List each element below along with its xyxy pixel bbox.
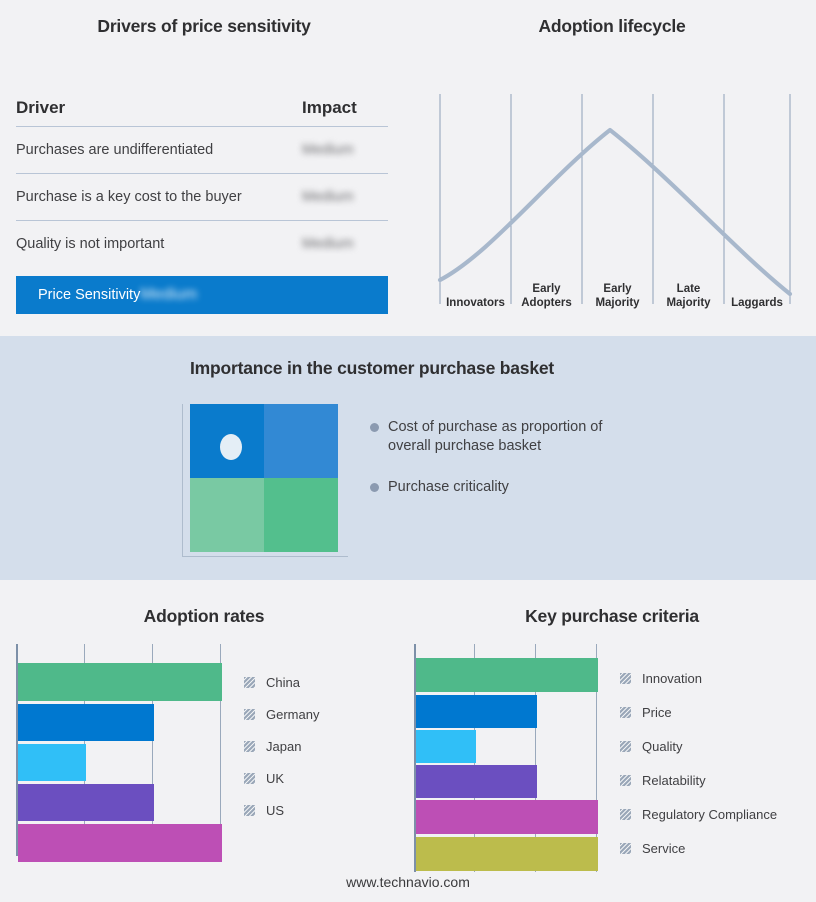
drivers-title: Drivers of price sensitivity <box>0 16 408 37</box>
lifecycle-stage: Late Majority <box>653 283 724 310</box>
impact-value-blurred: Medium <box>302 142 354 158</box>
highlight-impact-cell: Medium <box>140 286 226 304</box>
legend-item: Regulatory Compliance <box>620 797 777 831</box>
legend-item: Germany <box>244 698 319 730</box>
bar-uk <box>18 784 154 821</box>
impact-cell: Medium <box>302 189 388 205</box>
legend-item: Innovation <box>620 661 777 695</box>
legend-swatch-icon <box>620 843 631 854</box>
key-purchase-criteria-title: Key purchase criteria <box>408 606 816 627</box>
legend-swatch-icon <box>244 677 255 688</box>
impact-value-blurred: Medium <box>302 189 354 205</box>
lifecycle-stage: Early Adopters <box>511 283 582 310</box>
legend-item-label: US <box>266 803 284 818</box>
lifecycle-stage: Laggards <box>724 297 790 311</box>
legend-swatch-icon <box>244 805 255 816</box>
legend-item-label: Japan <box>266 739 301 754</box>
bar-germany <box>18 704 154 741</box>
adoption-lifecycle-title: Adoption lifecycle <box>408 16 816 37</box>
legend-item: Quality <box>620 729 777 763</box>
key-purchase-criteria-chart: Innovation Price Quality Relatability Re… <box>414 644 810 872</box>
quadrant-bottom-right <box>264 478 338 552</box>
adoption-rates-plot <box>16 644 222 856</box>
driver-cell: Purchase is a key cost to the buyer <box>16 189 302 205</box>
table-row: Quality is not important Medium <box>16 221 388 267</box>
stage-line2: Majority <box>653 297 724 311</box>
impact-value-blurred: Medium <box>302 236 354 252</box>
bullet-icon <box>370 423 379 432</box>
key-purchase-criteria-panel: Key purchase criteria Innovation <box>408 580 816 902</box>
legend-swatch-icon <box>244 741 255 752</box>
column-header-driver: Driver <box>16 98 302 118</box>
legend-swatch-icon <box>620 707 631 718</box>
legend-item-label: UK <box>266 771 284 786</box>
legend-item: Service <box>620 831 777 865</box>
legend-item-label: China <box>266 675 300 690</box>
purchase-basket-title: Importance in the customer purchase bask… <box>0 358 744 379</box>
bar-quality <box>416 730 476 763</box>
purchase-basket-panel: Importance in the customer purchase bask… <box>0 336 816 580</box>
bar-price <box>416 695 537 728</box>
bar-innovation <box>416 658 598 692</box>
table-row: Purchase is a key cost to the buyer Medi… <box>16 174 388 220</box>
legend-item-label: Germany <box>266 707 319 722</box>
legend-item: US <box>244 794 319 826</box>
adoption-rates-title: Adoption rates <box>0 606 408 627</box>
quadrant-top-right <box>264 404 338 478</box>
bar-service <box>416 837 598 871</box>
bar-regulatory-compliance <box>416 800 598 834</box>
legend-item: Japan <box>244 730 319 762</box>
adoption-lifecycle-panel: Adoption lifecycle Innovators Early Adop… <box>408 0 816 336</box>
legend-item-label: Purchase criticality <box>388 478 509 497</box>
legend-item-label: Quality <box>642 739 682 754</box>
driver-cell: Quality is not important <box>16 236 302 252</box>
quadrant-chart <box>182 404 348 564</box>
legend-swatch-icon <box>620 775 631 786</box>
legend-item-label: Service <box>642 841 685 856</box>
legend-item-label: Innovation <box>642 671 702 686</box>
stage-line1: Early <box>582 283 653 297</box>
key-purchase-criteria-plot <box>414 644 598 872</box>
quadrant-axis-horizontal <box>182 556 348 557</box>
purchase-basket-legend: Cost of purchase as proportion of overal… <box>370 418 670 519</box>
table-row: Purchases are undifferentiated Medium <box>16 127 388 173</box>
bullet-icon <box>370 483 379 492</box>
quadrant-top-left <box>190 404 264 478</box>
legend-swatch-icon <box>620 673 631 684</box>
quadrant-axis-vertical <box>182 404 183 556</box>
stage-line1: Late <box>653 283 724 297</box>
adoption-rates-chart: China Germany Japan UK US <box>16 644 392 856</box>
highlight-driver-label: Price Sensitivity <box>16 287 140 303</box>
stage-line2: Adopters <box>511 297 582 311</box>
bar-us <box>18 824 222 862</box>
drivers-table: Driver Impact Purchases are undifferenti… <box>16 90 388 314</box>
quadrant-bottom-left <box>190 478 264 552</box>
legend-item: Cost of purchase as proportion of overal… <box>370 418 670 456</box>
bar-china <box>18 663 222 701</box>
lifecycle-stage: Early Majority <box>582 283 653 310</box>
impact-value-blurred: Medium <box>140 286 197 304</box>
footer-url: www.technavio.com <box>0 874 816 890</box>
table-header-row: Driver Impact <box>16 90 388 126</box>
stage-line1: Early <box>511 283 582 297</box>
adoption-rates-legend: China Germany Japan UK US <box>244 666 319 826</box>
legend-item: Purchase criticality <box>370 478 670 497</box>
legend-swatch-icon <box>620 741 631 752</box>
quadrant-grid <box>190 404 338 552</box>
legend-item: Relatability <box>620 763 777 797</box>
bar-relatability <box>416 765 537 798</box>
adoption-lifecycle-chart: Innovators Early Adopters Early Majority… <box>430 82 802 310</box>
legend-swatch-icon <box>244 773 255 784</box>
legend-item-label: Cost of purchase as proportion of overal… <box>388 418 640 456</box>
quadrant-marker-dot <box>220 434 242 460</box>
driver-cell: Purchases are undifferentiated <box>16 142 302 158</box>
legend-item-label: Relatability <box>642 773 706 788</box>
legend-item: UK <box>244 762 319 794</box>
impact-cell: Medium <box>302 142 388 158</box>
key-purchase-criteria-legend: Innovation Price Quality Relatability Re… <box>620 661 777 865</box>
bar-japan <box>18 744 86 781</box>
impact-cell: Medium <box>302 236 388 252</box>
adoption-rates-bars <box>18 644 222 856</box>
legend-swatch-icon <box>244 709 255 720</box>
stage-line2: Laggards <box>724 297 790 311</box>
stage-line2: Innovators <box>440 297 511 311</box>
legend-item: China <box>244 666 319 698</box>
legend-item-label: Regulatory Compliance <box>642 807 777 822</box>
legend-item: Price <box>620 695 777 729</box>
adoption-rates-panel: Adoption rates China Germany <box>0 580 408 902</box>
legend-item-label: Price <box>642 705 672 720</box>
price-sensitivity-highlight-row: Price Sensitivity Medium <box>16 276 388 314</box>
key-purchase-criteria-bars <box>416 644 598 872</box>
drivers-panel: Drivers of price sensitivity Driver Impa… <box>0 0 408 336</box>
lifecycle-stage-labels: Innovators Early Adopters Early Majority… <box>430 270 802 310</box>
lifecycle-stage: Innovators <box>440 297 511 311</box>
stage-line2: Majority <box>582 297 653 311</box>
legend-swatch-icon <box>620 809 631 820</box>
column-header-impact: Impact <box>302 98 388 118</box>
